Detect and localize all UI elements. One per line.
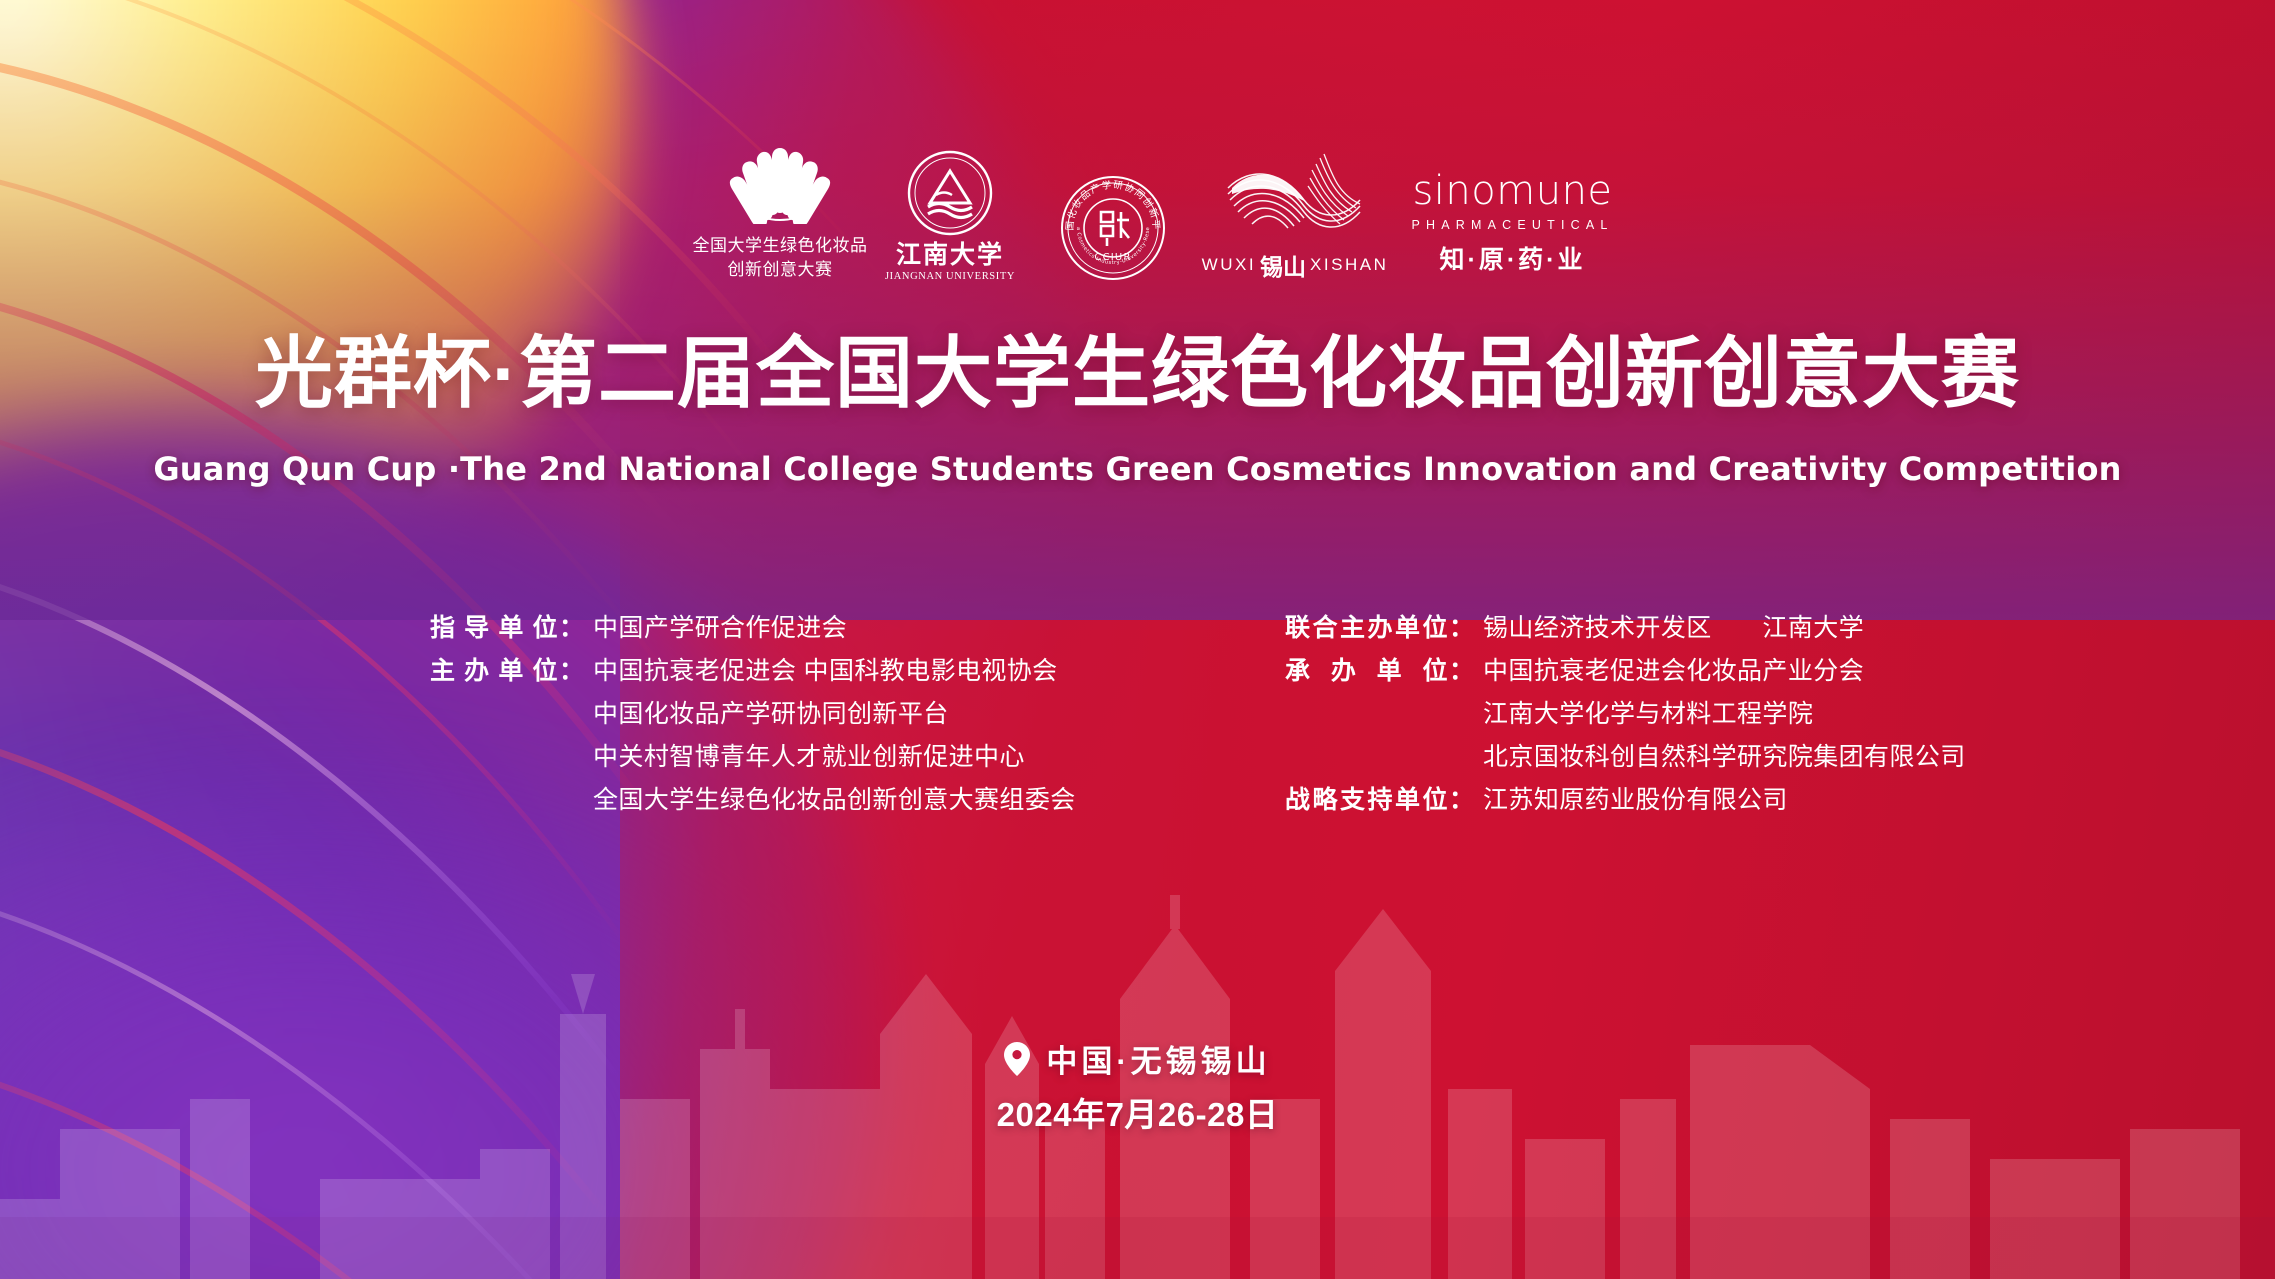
organiser-value: 江苏知原药业股份有限公司: [1483, 780, 1788, 816]
banner-title-chinese: 光群杯·第二届全国大学生绿色化妆品创新创意大赛: [0, 332, 2275, 415]
organiser-value: 全国大学生绿色化妆品创新创意大赛组委会: [593, 780, 1076, 816]
organiser-line: 指导单位 ： 中国产学研合作促进会: [430, 608, 1076, 651]
organiser-line: 承办单位 ： 北京国妆科创自然科学研究院集团有限公司: [1285, 737, 1966, 780]
organiser-value: 中国产学研合作促进会: [593, 608, 847, 644]
logo-5-cn: 知·原·药·业: [1440, 240, 1586, 276]
organiser-value: 锡山经济技术开发区 江南大学: [1483, 608, 1864, 644]
organiser-label: 承办单位: [1285, 651, 1448, 687]
logo-4-cn-seal: 锡山: [1260, 248, 1306, 282]
organiser-value: 中关村智博青年人才就业创新促进中心: [593, 737, 1025, 773]
organiser-line: 承办单位 ： 江南大学化学与材料工程学院: [1285, 694, 1966, 737]
organiser-label: 战略支持单位: [1285, 780, 1448, 816]
organiser-value: 江南大学化学与材料工程学院: [1483, 694, 1813, 730]
organiser-colon: ：: [1449, 780, 1474, 816]
organiser-line: 联合主办单位 ： 锡山经济技术开发区 江南大学: [1285, 608, 1966, 651]
organiser-label: 联合主办单位: [1285, 608, 1448, 644]
map-pin-icon: [1004, 1042, 1030, 1076]
organiser-label: 指导单位: [430, 608, 558, 644]
logo-4-en-left: WUXI: [1202, 255, 1256, 275]
organiser-colon: ：: [559, 608, 584, 644]
ribbon-swoosh-mark-icon: [1220, 148, 1370, 244]
organiser-line: 主办单位 ： 中关村智博青年人才就业创新促进中心: [430, 737, 1076, 780]
event-location-text: 中国·无锡锡山: [1046, 1036, 1270, 1081]
circle-mountain-water-seal-icon: [906, 149, 994, 237]
organisers-section: 指导单位 ： 中国产学研合作促进会 主办单位 ： 中国抗衰老促进会 中国科教电影…: [0, 608, 2275, 838]
logo-sinomune-pharmaceutical: sinomune PHARMACEUTICAL 知·原·药·业: [1395, 171, 1630, 282]
banner-title-english: Guang Qun Cup ·The 2nd National College …: [0, 452, 2275, 487]
organiser-colon: ：: [1449, 651, 1474, 687]
logo-1-cn-line-2: 创新创意大赛: [693, 258, 868, 282]
logo-4-en-right: XISHAN: [1310, 255, 1388, 275]
circular-seal-cciur-icon: 中国化妆品产学研协同创新平台 China Cosmetics Industry-…: [1059, 174, 1167, 282]
organiser-colon: ：: [1449, 608, 1474, 644]
logo-cciur-platform: 中国化妆品产学研协同创新平台 China Cosmetics Industry-…: [1030, 174, 1195, 282]
organiser-value: 中国化妆品产学研协同创新平台: [593, 694, 949, 730]
logo-1-cn-line-1: 全国大学生绿色化妆品: [693, 234, 868, 258]
organiser-label: 主办单位: [430, 651, 558, 687]
sponsor-logo-row: 全国大学生绿色化妆品 创新创意大赛 江南大学 JIANGNAN UNIVERSI…: [690, 112, 1630, 282]
fan-shell-mark-icon: [725, 142, 835, 224]
logo-5-wordmark: sinomune: [1412, 171, 1612, 211]
organiser-value: 中国抗衰老促进会 中国科教电影电视协会: [593, 651, 1058, 687]
organiser-line: 主办单位 ： 中国抗衰老促进会 中国科教电影电视协会: [430, 651, 1076, 694]
organiser-line: 承办单位 ： 中国抗衰老促进会化妆品产业分会: [1285, 651, 1966, 694]
logo-jiangnan-university: 江南大学 JIANGNAN UNIVERSITY: [870, 149, 1030, 283]
event-banner: 全国大学生绿色化妆品 创新创意大赛 江南大学 JIANGNAN UNIVERSI…: [0, 0, 2275, 1279]
organiser-value: 北京国妆科创自然科学研究院集团有限公司: [1483, 737, 1966, 773]
event-date: 2024年7月26-28日: [0, 1088, 2275, 1136]
organiser-line: 主办单位 ： 全国大学生绿色化妆品创新创意大赛组委会: [430, 780, 1076, 823]
organisers-column-left: 指导单位 ： 中国产学研合作促进会 主办单位 ： 中国抗衰老促进会 中国科教电影…: [430, 608, 1076, 823]
logo-2-en: JIANGNAN UNIVERSITY: [885, 271, 1015, 282]
logo-wuxi-xishan: WUXI 锡山 XISHAN: [1195, 148, 1395, 282]
organiser-line: 主办单位 ： 中国化妆品产学研协同创新平台: [430, 694, 1076, 737]
organiser-line: 战略支持单位 ： 江苏知原药业股份有限公司: [1285, 780, 1966, 823]
logo-2-cn: 江南大学: [896, 241, 1004, 269]
organiser-value: 中国抗衰老促进会化妆品产业分会: [1483, 651, 1864, 687]
event-location: 中国·无锡锡山: [0, 1036, 2275, 1081]
logo-national-college-green-cosmetics-competition: 全国大学生绿色化妆品 创新创意大赛: [690, 142, 870, 282]
organisers-column-right: 联合主办单位 ： 锡山经济技术开发区 江南大学 承办单位 ： 中国抗衰老促进会化…: [1285, 608, 1966, 823]
logo-3-abbr: CCIUR: [1094, 252, 1131, 263]
organiser-colon: ：: [559, 651, 584, 687]
logo-5-subtitle: PHARMACEUTICAL: [1411, 218, 1613, 232]
